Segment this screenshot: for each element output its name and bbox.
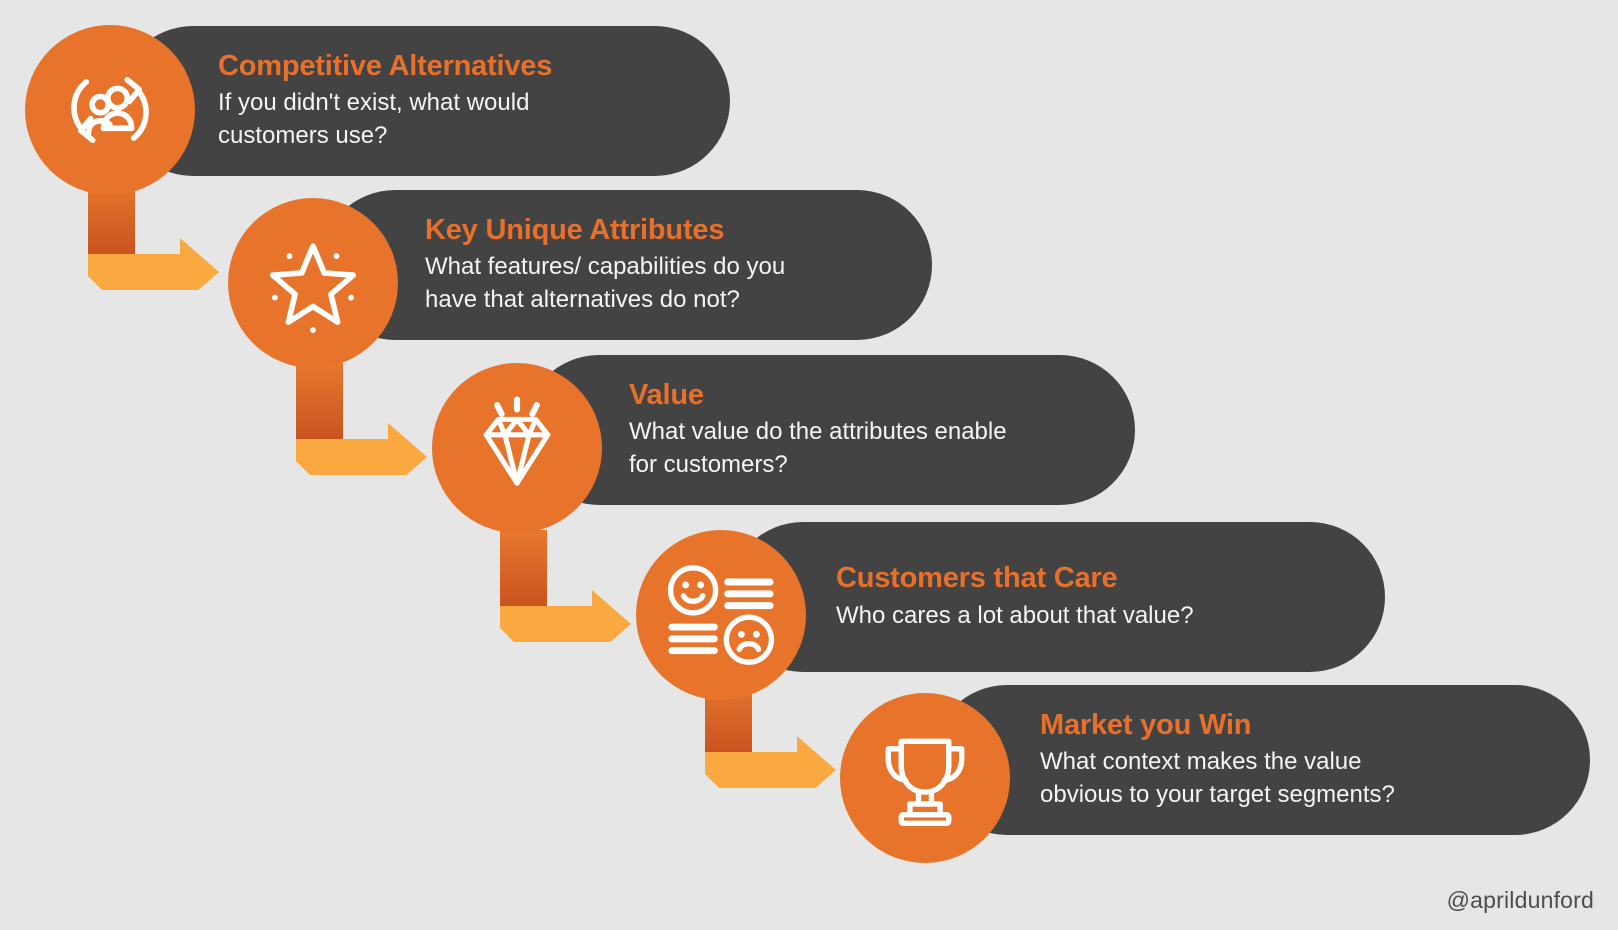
diagram-canvas: Competitive Alternatives If you didn't e… [0,0,1618,930]
step-bubble-customers-that-care[interactable] [636,530,806,700]
card-value: Value What value do the attributes enabl… [524,355,1135,505]
people-refresh-icon [56,56,164,164]
card-key-unique-attributes: Key Unique Attributes What features/ cap… [320,190,932,340]
card-title: Value [629,379,1135,412]
card-competitive-alternatives: Competitive Alternatives If you didn't e… [118,26,730,176]
card-body: What value do the attributes enable for … [629,415,1135,481]
card-title: Key Unique Attributes [425,214,932,247]
card-title: Competitive Alternatives [218,50,730,83]
connector-arrow-2 [288,355,438,475]
card-body: What context makes the value obvious to … [1040,745,1590,811]
diamond-icon [462,393,572,503]
card-customers-that-care: Customers that Care Who cares a lot abou… [728,522,1385,672]
step-bubble-key-unique-attributes[interactable] [228,198,398,368]
step-bubble-market-you-win[interactable] [840,693,1010,863]
card-market-you-win: Market you Win What context makes the va… [932,685,1590,835]
feedback-faces-icon [662,559,780,671]
card-title: Customers that Care [836,562,1385,595]
connector-arrow-3 [492,522,642,642]
card-body: Who cares a lot about that value? [836,599,1385,632]
card-body: If you didn't exist, what would customer… [218,86,730,152]
trophy-icon [871,724,979,832]
star-icon [257,227,369,339]
step-bubble-value[interactable] [432,363,602,533]
card-title: Market you Win [1040,709,1590,742]
card-body: What features/ capabilities do you have … [425,250,932,316]
step-bubble-competitive-alternatives[interactable] [25,25,195,195]
watermark-handle: @aprildunford [1447,887,1594,914]
